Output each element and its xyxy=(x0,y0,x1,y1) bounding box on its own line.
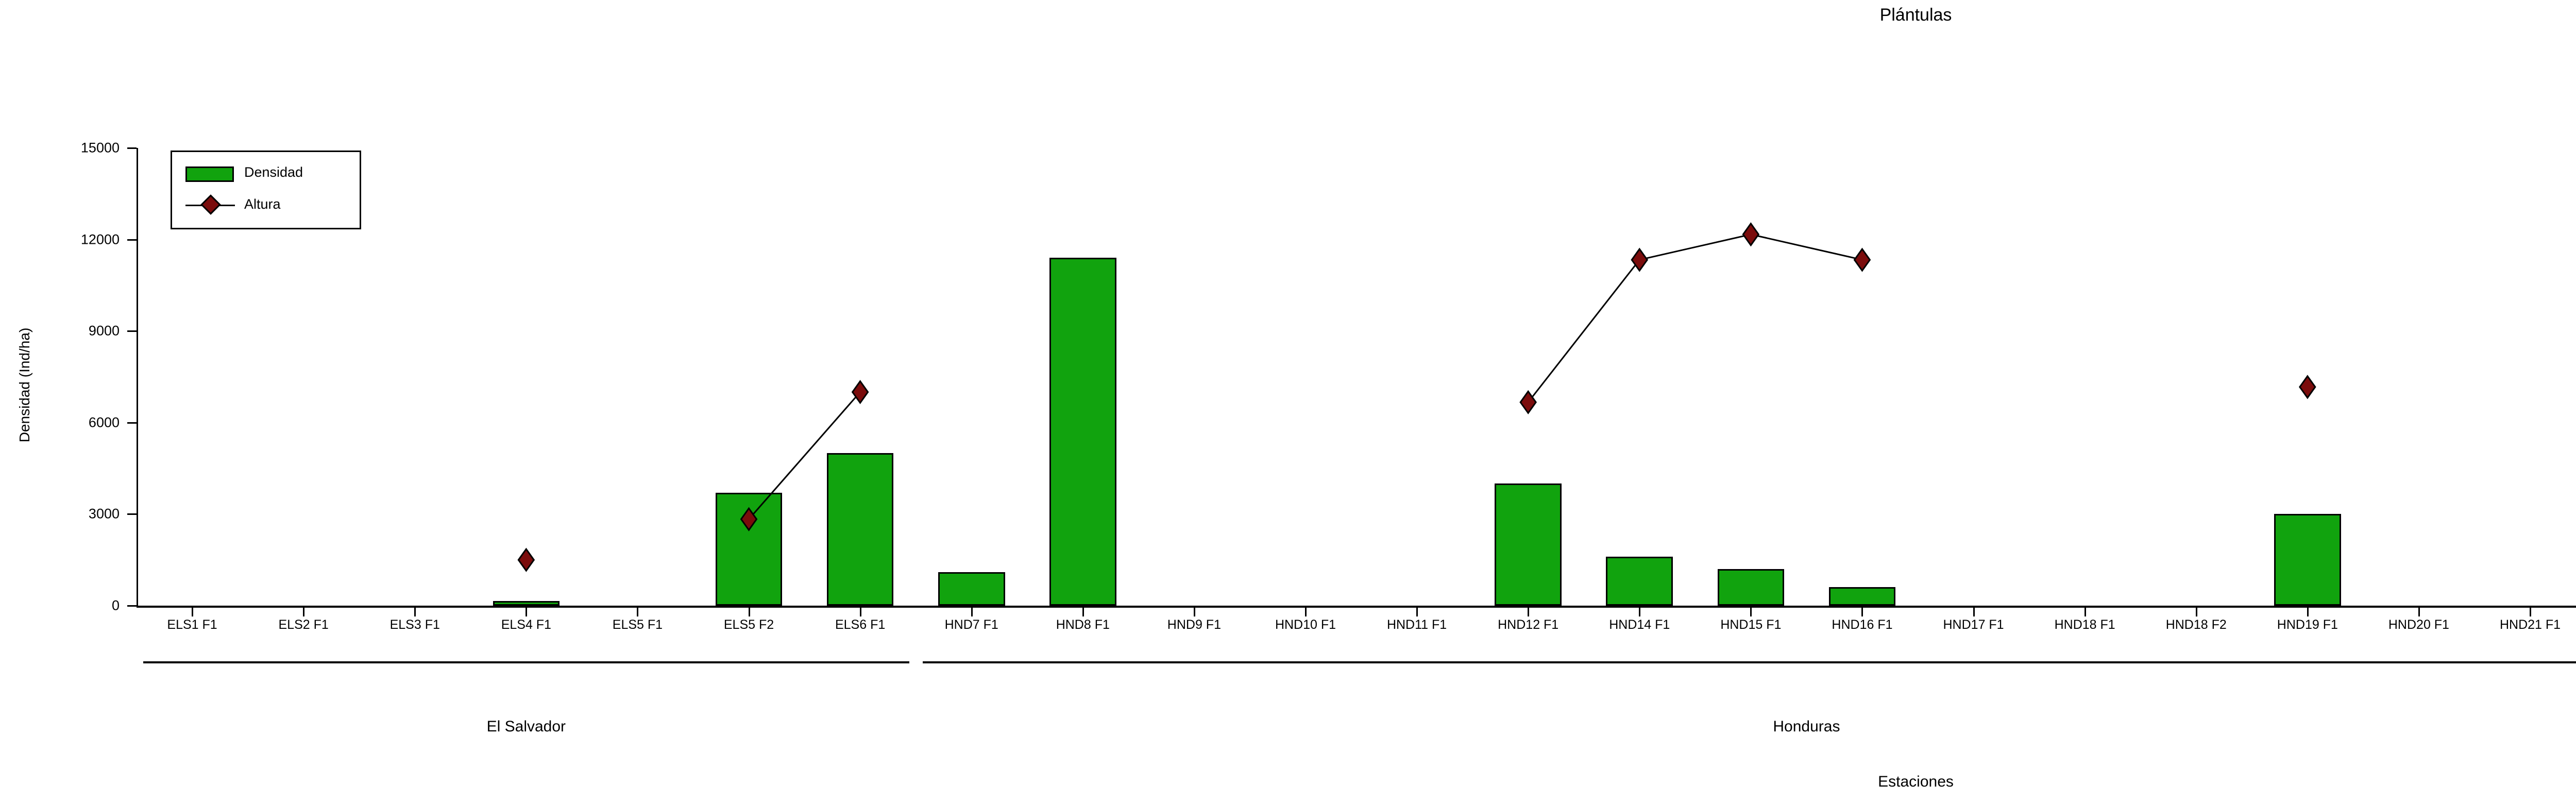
x-tick-label: ELS5 F1 xyxy=(613,618,663,632)
x-tick-mark xyxy=(637,608,638,616)
x-tick-label: HND12 F1 xyxy=(1498,618,1558,632)
x-tick-mark xyxy=(1750,608,1752,616)
x-tick-label: HND10 F1 xyxy=(1275,618,1336,632)
y-tick-mark-left xyxy=(127,422,137,424)
x-tick-mark xyxy=(860,608,861,616)
chart-figure: Plántulas Densidad (Ind/ha) Altura (cm) … xyxy=(0,0,2576,801)
x-tick-mark xyxy=(526,608,527,616)
x-tick-mark xyxy=(192,608,193,616)
x-tick-mark xyxy=(2307,608,2309,616)
x-tick-mark xyxy=(1639,608,1640,616)
bar-densidad xyxy=(1718,569,1785,606)
x-tick-mark xyxy=(2418,608,2420,616)
x-axis-label: Estaciones xyxy=(0,773,2576,791)
x-tick-label: HND16 F1 xyxy=(1832,618,1892,632)
x-tick-mark xyxy=(971,608,973,616)
group-label: Honduras xyxy=(1773,718,1840,736)
x-tick-mark xyxy=(1528,608,1529,616)
x-tick-mark xyxy=(414,608,416,616)
bar-densidad xyxy=(493,601,560,606)
altura-diamond-marker xyxy=(1743,224,1758,245)
x-tick-mark xyxy=(1861,608,1863,616)
altura-diamond-marker xyxy=(1854,249,1870,271)
chart-title: Plántulas xyxy=(0,5,2576,25)
y-tick-label-left: 6000 xyxy=(0,414,120,430)
x-tick-label: HND17 F1 xyxy=(1943,618,2004,632)
x-tick-mark xyxy=(1082,608,1084,616)
x-tick-mark xyxy=(2084,608,2086,616)
altura-diamond-marker xyxy=(853,381,868,403)
chart-legend: Densidad Altura xyxy=(171,151,361,229)
group-separator-rule xyxy=(923,661,2576,663)
x-tick-label: ELS4 F1 xyxy=(501,618,551,632)
y-tick-mark-left xyxy=(127,330,137,332)
altura-line-segments xyxy=(749,194,2576,519)
x-tick-mark xyxy=(1416,608,1418,616)
x-tick-label: HND8 F1 xyxy=(1056,618,1110,632)
y-tick-mark-left xyxy=(127,239,137,241)
x-tick-mark xyxy=(2530,608,2531,616)
x-tick-mark xyxy=(1194,608,1195,616)
x-tick-mark xyxy=(749,608,750,616)
y-tick-label-left: 9000 xyxy=(0,323,120,339)
group-label: El Salvador xyxy=(487,718,566,736)
x-tick-label: HND20 F1 xyxy=(2388,618,2449,632)
y-tick-label-left: 12000 xyxy=(0,231,120,247)
left-axis-spine xyxy=(137,148,138,607)
legend-diamond-swatch-icon xyxy=(200,194,221,215)
x-tick-label: ELS3 F1 xyxy=(390,618,440,632)
altura-line-segment xyxy=(1639,235,1751,260)
bar-densidad xyxy=(716,493,783,606)
legend-label-altura: Altura xyxy=(244,196,281,212)
y-tick-mark-left xyxy=(127,513,137,515)
altura-diamond-marker xyxy=(1520,391,1536,413)
x-tick-label: ELS1 F1 xyxy=(167,618,217,632)
altura-line-segment xyxy=(1751,235,1862,260)
legend-bar-swatch-icon xyxy=(185,166,234,182)
bar-densidad xyxy=(938,572,1005,606)
x-tick-label: HND15 F1 xyxy=(1720,618,1781,632)
bar-densidad xyxy=(827,453,894,606)
altura-diamond-marker xyxy=(2300,376,2315,398)
legend-item-densidad: Densidad xyxy=(172,159,360,188)
altura-line-segment xyxy=(1528,260,1639,402)
x-tick-label: ELS6 F1 xyxy=(835,618,885,632)
bar-densidad xyxy=(1606,557,1673,606)
bar-densidad xyxy=(1495,483,1562,606)
group-separator-rule xyxy=(143,661,909,663)
x-tick-label: HND19 F1 xyxy=(2277,618,2338,632)
bottom-axis-spine xyxy=(137,606,2576,608)
y-tick-mark-left xyxy=(127,605,137,607)
bar-densidad xyxy=(2274,514,2341,606)
y-tick-label-left: 0 xyxy=(0,598,120,614)
altura-diamond-marker xyxy=(518,549,534,571)
legend-item-altura: Altura xyxy=(172,191,360,220)
bar-densidad xyxy=(1049,258,1116,606)
x-tick-label: HND21 F1 xyxy=(2500,618,2561,632)
y-tick-mark-left xyxy=(127,147,137,149)
y-tick-label-left: 15000 xyxy=(0,140,120,156)
altura-series-layer xyxy=(0,0,2576,801)
x-tick-label: HND18 F1 xyxy=(2055,618,2115,632)
altura-diamond-marker xyxy=(1632,249,1647,271)
x-tick-mark xyxy=(303,608,304,616)
x-tick-mark xyxy=(1305,608,1307,616)
x-tick-label: HND11 F1 xyxy=(1387,618,1447,632)
bar-densidad xyxy=(1829,587,1896,606)
x-tick-mark xyxy=(2196,608,2197,616)
y-tick-label-left: 3000 xyxy=(0,506,120,522)
x-tick-label: HND14 F1 xyxy=(1609,618,1670,632)
x-tick-mark xyxy=(1973,608,1975,616)
x-tick-label: HND9 F1 xyxy=(1167,618,1221,632)
x-tick-label: HND18 F2 xyxy=(2166,618,2227,632)
legend-label-densidad: Densidad xyxy=(244,164,303,180)
x-tick-label: ELS2 F1 xyxy=(279,618,329,632)
x-tick-label: ELS5 F2 xyxy=(724,618,774,632)
x-tick-label: HND7 F1 xyxy=(945,618,998,632)
